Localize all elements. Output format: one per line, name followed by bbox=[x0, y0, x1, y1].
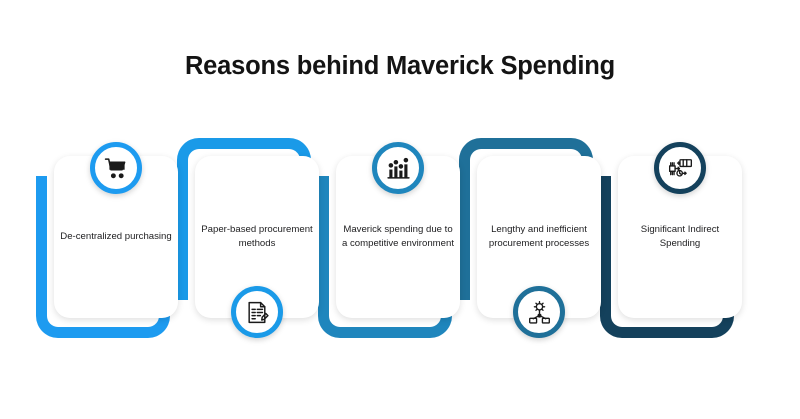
flow-card-4[interactable]: Lengthy and inefficient procurement proc… bbox=[455, 136, 607, 351]
flow-card-3[interactable]: Maverick spending due to a competitive e… bbox=[314, 136, 466, 351]
flow-card-2[interactable]: Paper-based procurement methods bbox=[173, 136, 325, 351]
flow-card-5[interactable]: Significant Indirect Spending bbox=[596, 136, 748, 351]
reasons-flow-diagram: De-centralized purchasing Paper-based pr… bbox=[0, 136, 800, 351]
document-checklist-icon bbox=[231, 286, 283, 338]
shopping-cart-icon bbox=[90, 142, 142, 194]
card-label: Paper-based procurement methods bbox=[201, 223, 313, 252]
flow-card-1[interactable]: De-centralized purchasing bbox=[32, 136, 184, 351]
card-label: Lengthy and inefficient procurement proc… bbox=[483, 223, 595, 252]
page-title: Reasons behind Maverick Spending bbox=[0, 52, 800, 81]
card-label: Significant Indirect Spending bbox=[624, 223, 736, 252]
gear-network-icon bbox=[513, 286, 565, 338]
card-label: Maverick spending due to a competitive e… bbox=[342, 223, 454, 252]
bar-chart-people-icon bbox=[372, 142, 424, 194]
flowchart-process-icon bbox=[654, 142, 706, 194]
card-label: De-centralized purchasing bbox=[60, 230, 171, 245]
